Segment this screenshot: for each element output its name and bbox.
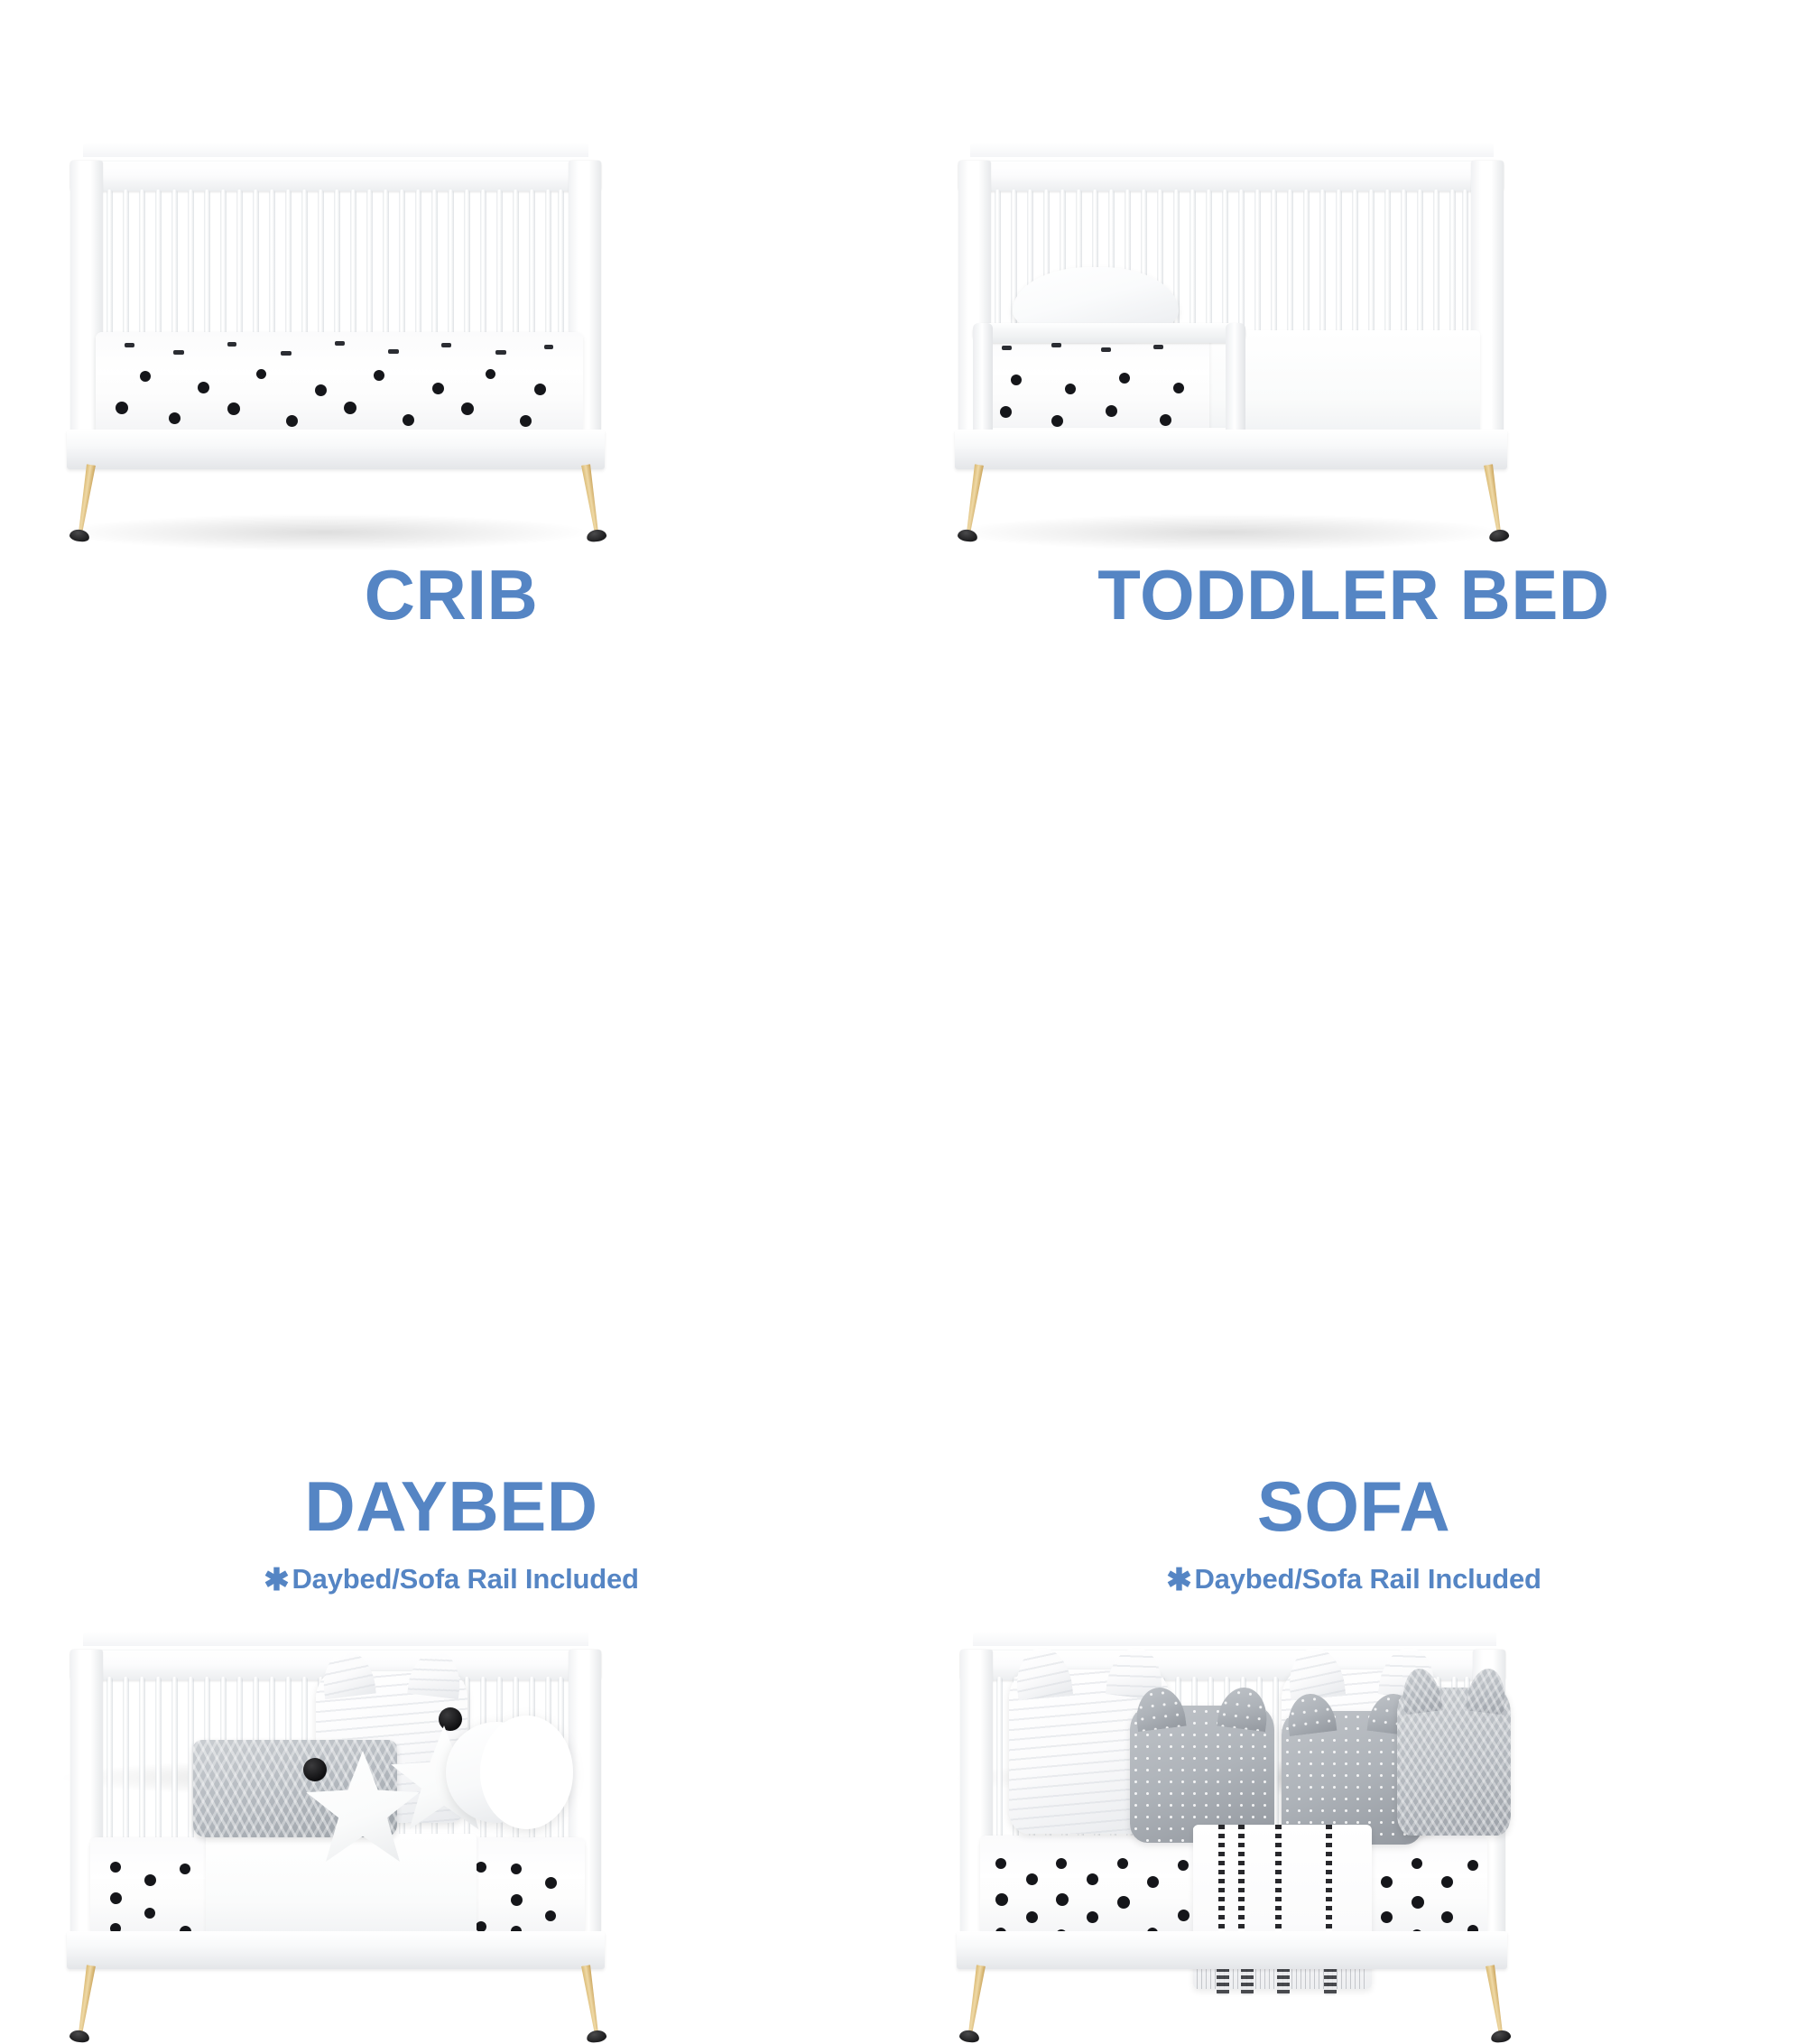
daybed-leg-front-right: [578, 1965, 606, 2044]
polka-dot-sheet: [96, 332, 583, 444]
toddler-label-block: TODDLER BED: [902, 560, 1805, 630]
toddler-guard-rail: [973, 323, 1245, 446]
panel-sofa: SOFA ✱Daybed/Sofa Rail Included: [902, 902, 1805, 1805]
guard-rail-post-left: [973, 323, 993, 446]
panel-label-sofa: SOFA: [902, 1471, 1805, 1541]
product-conversion-board: CRIB: [0, 0, 1805, 1805]
guard-rail-top-bar: [973, 323, 1245, 343]
panel-label-daybed: DAYBED: [0, 1471, 902, 1541]
guard-rail-post-right: [1226, 323, 1245, 446]
sofa-grey-dot-sham-left: [1130, 1706, 1274, 1843]
panel-label-crib: CRIB: [0, 560, 902, 630]
daybed-illustration: [0, 767, 902, 1453]
daybed-leg-front-left: [71, 1965, 99, 2044]
sofa-illustration: [902, 767, 1805, 1453]
sofa-leg-front-left: [961, 1965, 989, 2044]
daybed-pompom-lumbar: [303, 1758, 327, 1781]
sofa-rail-note-text: Daybed/Sofa Rail Included: [1194, 1563, 1541, 1595]
crib-base-rail: [67, 430, 605, 469]
crib-label-block: CRIB: [0, 560, 902, 630]
toddler-base-rail: [955, 430, 1507, 469]
daybed-rail-note-text: Daybed/Sofa Rail Included: [292, 1563, 638, 1595]
daybed-base-rail: [67, 1931, 605, 1969]
daybed-moon-pillow: [446, 1722, 547, 1823]
asterisk-icon: ✱: [264, 1563, 289, 1597]
floor-shadow: [63, 514, 587, 550]
toddler-top-rail: [958, 161, 1504, 191]
crib-top-rail: [70, 161, 601, 191]
sofa-top-rail-backface: [973, 1632, 1496, 1646]
crib-mattress: [96, 332, 583, 444]
sofa-grey-sham-far-right: [1397, 1688, 1511, 1836]
asterisk-icon: ✱: [1166, 1563, 1191, 1597]
toddler-top-rail-backface: [970, 143, 1494, 157]
floor-shadow: [957, 514, 1498, 550]
daybed-top-rail-backface: [83, 1632, 588, 1646]
sofa-rail-note: ✱Daybed/Sofa Rail Included: [902, 1565, 1805, 1595]
daybed-label-block: DAYBED ✱Daybed/Sofa Rail Included: [0, 1471, 902, 1595]
sofa-label-block: SOFA ✱Daybed/Sofa Rail Included: [902, 1471, 1805, 1595]
panel-label-toddler-bed: TODDLER BED: [902, 560, 1805, 630]
sofa-base-rail: [957, 1931, 1507, 1969]
panel-daybed: DAYBED ✱Daybed/Sofa Rail Included: [0, 902, 902, 1805]
crib-top-rail-backface: [83, 143, 588, 157]
sofa-leg-front-right: [1482, 1965, 1510, 2044]
daybed-pompom-sham: [439, 1707, 462, 1731]
daybed-rail-note: ✱Daybed/Sofa Rail Included: [0, 1565, 902, 1595]
